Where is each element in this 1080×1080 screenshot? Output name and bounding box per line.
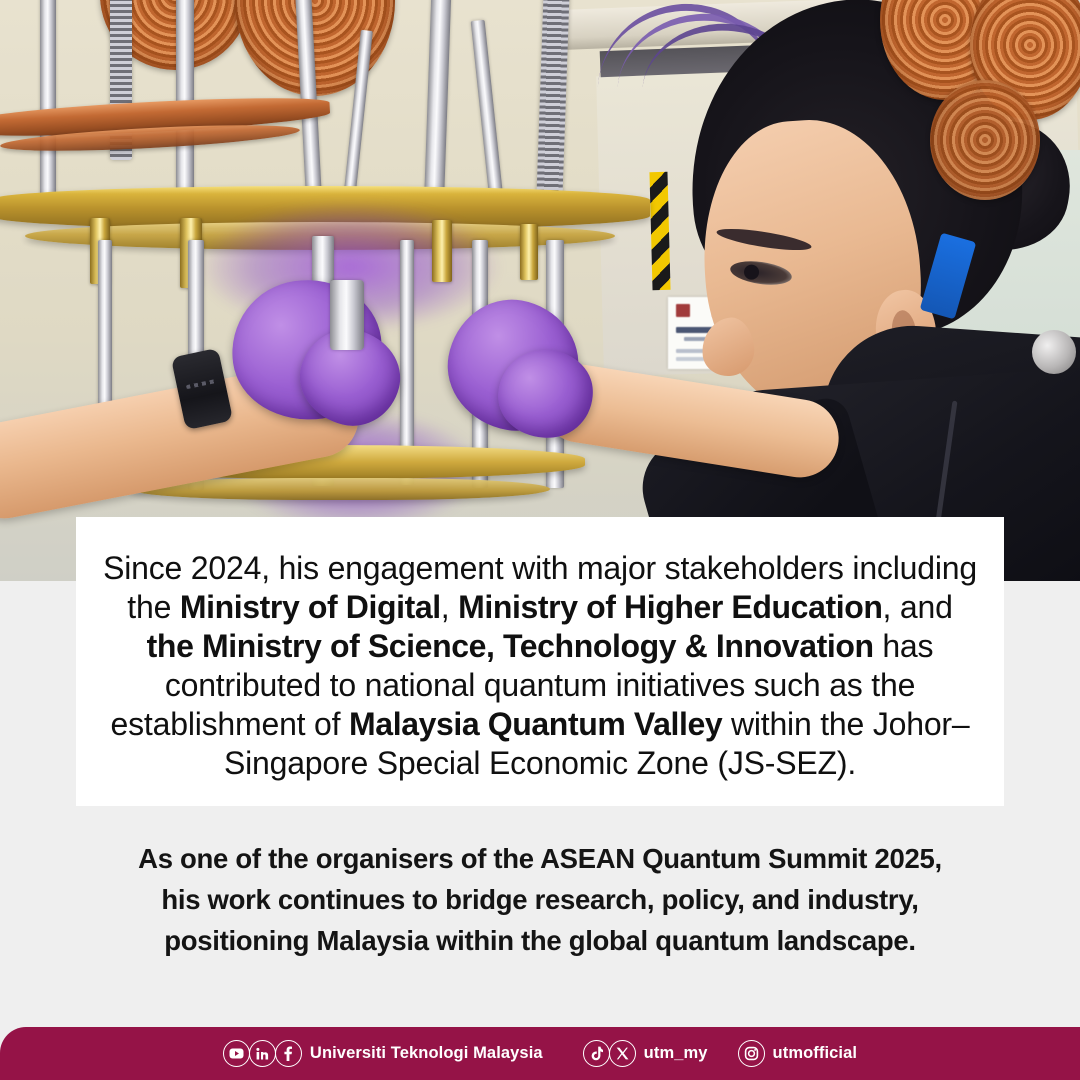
support-rod	[40, 0, 56, 200]
hero-photo	[0, 0, 1080, 581]
paragraph-text: Since 2024, his engagement with major st…	[102, 549, 978, 783]
gold-post	[432, 220, 452, 282]
instagram-icon[interactable]	[738, 1040, 765, 1067]
social-footer: Universiti Teknologi Malaysia utm_my	[0, 1027, 1080, 1080]
social-handle-utm[interactable]: Universiti Teknologi Malaysia	[310, 1044, 543, 1063]
paragraph-emphasis: Malaysia Quantum Valley	[349, 706, 722, 742]
paragraph-card: Since 2024, his engagement with major st…	[76, 517, 1004, 806]
background-knob	[1032, 330, 1076, 374]
threaded-rod	[536, 0, 570, 210]
summary-line: positioning Malaysia within the global q…	[76, 920, 1004, 961]
youtube-icon[interactable]	[223, 1040, 250, 1067]
summary-text: As one of the organisers of the ASEAN Qu…	[76, 838, 1004, 961]
social-group-utm-my: utm_my	[583, 1040, 708, 1067]
support-rod	[471, 20, 504, 200]
social-group-main: Universiti Teknologi Malaysia	[223, 1040, 543, 1067]
linkedin-icon[interactable]	[249, 1040, 276, 1067]
social-group-utmofficial: utmofficial	[738, 1040, 858, 1067]
copper-coil	[930, 80, 1040, 200]
tiktok-icon[interactable]	[583, 1040, 610, 1067]
facebook-icon[interactable]	[275, 1040, 302, 1067]
paragraph-emphasis: Ministry of Digital	[180, 589, 441, 625]
support-rod	[176, 0, 194, 190]
paragraph-run: ,	[441, 589, 458, 625]
paragraph-emphasis: Ministry of Higher Education	[458, 589, 882, 625]
social-handle-utmofficial[interactable]: utmofficial	[773, 1044, 858, 1063]
paragraph-emphasis: the Ministry of Science, Technology & In…	[147, 628, 874, 664]
support-rod	[424, 0, 451, 195]
social-handle-utm-my[interactable]: utm_my	[644, 1044, 708, 1063]
sample-cylinder	[330, 280, 364, 350]
summary-line: his work continues to bridge research, p…	[76, 879, 1004, 920]
summary-line: As one of the organisers of the ASEAN Qu…	[76, 838, 1004, 879]
paragraph-run: , and	[883, 589, 953, 625]
post-canvas: Since 2024, his engagement with major st…	[0, 0, 1080, 1080]
x-icon[interactable]	[609, 1040, 636, 1067]
gold-post	[520, 224, 538, 280]
